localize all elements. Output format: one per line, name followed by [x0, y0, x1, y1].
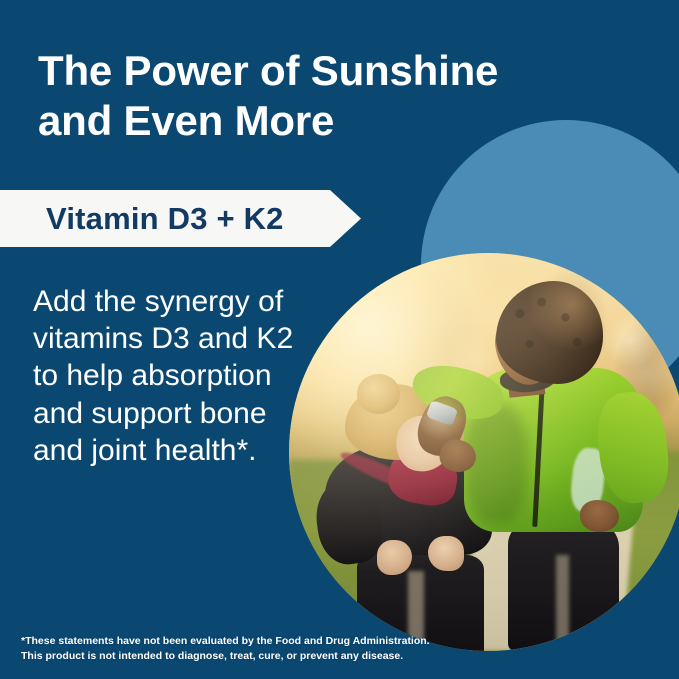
advertisement-banner: The Power of Sunshine and Even More Vita… [0, 0, 679, 679]
runner-green-leg-gap [556, 555, 570, 651]
runner-green-hair-texture [500, 285, 600, 381]
legal-disclaimer: *These statements have not been evaluate… [21, 634, 441, 664]
runner-blonde-hand-right [428, 536, 464, 572]
banner-label: Vitamin D3 + K2 [46, 190, 284, 247]
page-title: The Power of Sunshine and Even More [38, 46, 598, 145]
body-copy: Add the synergy of vitamins D3 and K2 to… [33, 283, 308, 469]
runner-green-hand-on-hip [580, 500, 620, 532]
lifestyle-photo-circle [289, 253, 679, 651]
product-callout-banner: Vitamin D3 + K2 [0, 190, 362, 247]
